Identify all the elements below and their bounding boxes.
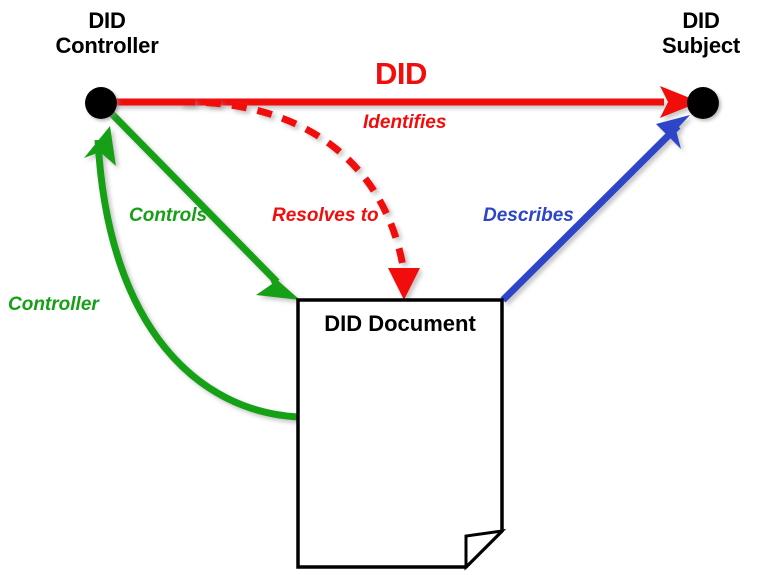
node-did-subject[interactable] (687, 87, 719, 119)
document-outline (298, 300, 502, 567)
did-architecture-diagram: DID Controller DID Subject DID Document … (0, 0, 763, 575)
edge-label-controls: Controls (129, 205, 207, 227)
edge-label-controller: Controller (8, 294, 99, 316)
did-subject-dot (687, 87, 719, 119)
did-controller-label: DID Controller (27, 8, 187, 58)
resolves-to-arrowhead (388, 268, 420, 300)
node-did-controller[interactable] (85, 87, 117, 119)
document-fold (466, 531, 502, 567)
edge-label-did: DID (375, 56, 427, 92)
did-subject-label: DID Subject (621, 8, 763, 58)
edge-label-describes: Describes (483, 205, 574, 227)
edge-label-resolves-to: Resolves to (272, 205, 379, 227)
edge-label-identifies: Identifies (363, 112, 446, 134)
controls-arrowhead (256, 270, 300, 300)
did-document-shape[interactable] (298, 300, 502, 567)
did-controller-dot (85, 87, 117, 119)
did-document-title: DID Document (298, 311, 502, 337)
controls-line (112, 114, 277, 282)
